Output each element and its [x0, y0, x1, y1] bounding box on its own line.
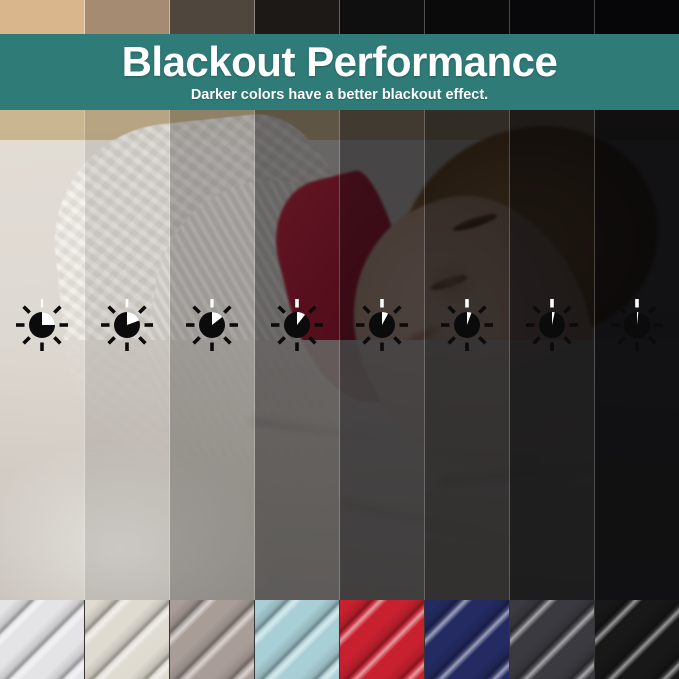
page-subtitle: Darker colors have a better blackout eff…	[191, 86, 488, 104]
fabric-swatch-taupe[interactable]	[170, 600, 255, 679]
banner: Blackout Performance Darker colors have …	[0, 34, 679, 110]
fabric-sheen-highlight	[0, 600, 85, 679]
fabric-sheen-highlight	[170, 600, 255, 679]
curtain-fabric-swatches	[0, 600, 679, 679]
fabric-sheen-highlight	[425, 600, 510, 679]
fabric-sheen-highlight	[255, 600, 340, 679]
fabric-sheen-highlight	[510, 600, 595, 679]
fabric-swatch-ivory[interactable]	[85, 600, 170, 679]
blackout-performance-infographic: Blackout Performance Darker colors have …	[0, 0, 679, 679]
page-title: Blackout Performance	[122, 40, 558, 84]
fabric-swatch-red[interactable]	[340, 600, 425, 679]
fabric-sheen-highlight	[85, 600, 170, 679]
fabric-swatch-black[interactable]	[595, 600, 679, 679]
fabric-swatch-dark-grey[interactable]	[510, 600, 595, 679]
fabric-swatch-white[interactable]	[0, 600, 85, 679]
fabric-swatch-navy[interactable]	[425, 600, 510, 679]
fabric-sheen-highlight	[340, 600, 425, 679]
fabric-swatch-light-teal[interactable]	[255, 600, 340, 679]
fabric-sheen-highlight	[595, 600, 679, 679]
